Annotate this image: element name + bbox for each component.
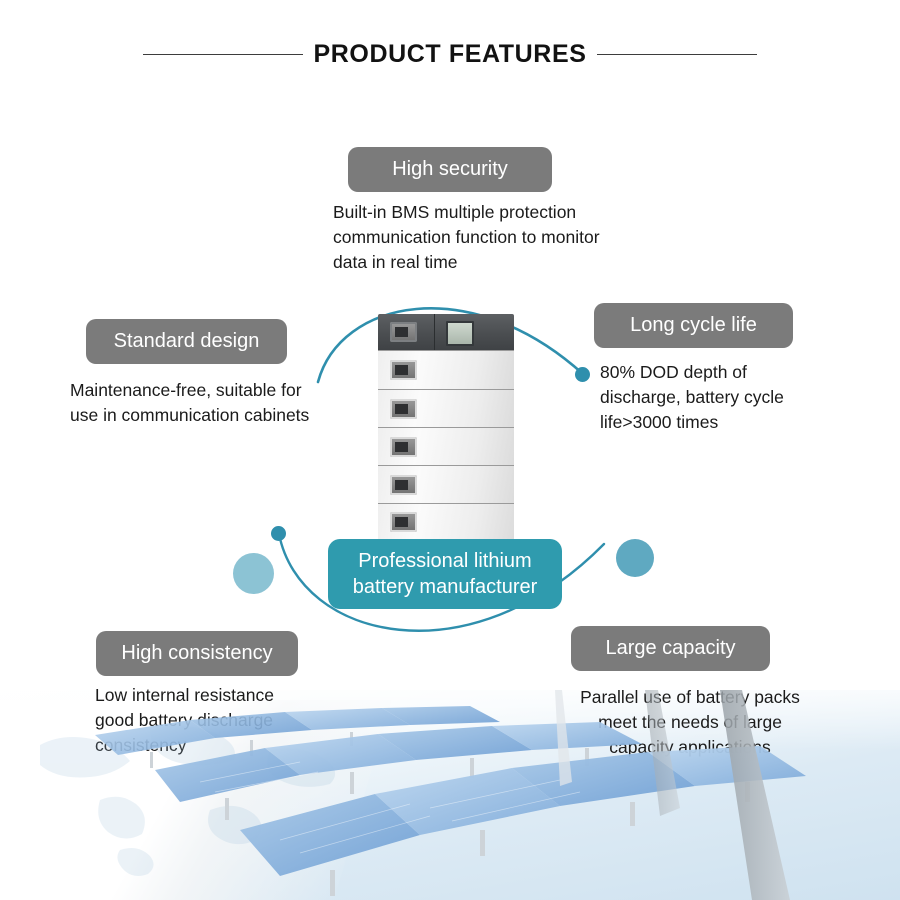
module-handle-icon xyxy=(390,437,417,457)
product-image-battery-cabinet xyxy=(378,314,514,539)
product-features-infographic: PRODUCT FEATURES xyxy=(0,0,900,900)
module-divider xyxy=(434,314,435,350)
center-banner-manufacturer: Professional lithium battery manufacture… xyxy=(328,539,562,609)
battery-module-top xyxy=(378,314,514,350)
module-handle-icon xyxy=(390,399,417,419)
battery-module xyxy=(378,465,514,503)
connector-dot-long-cycle-life xyxy=(575,367,590,382)
battery-module xyxy=(378,427,514,465)
battery-module xyxy=(378,389,514,427)
battery-module xyxy=(378,350,514,389)
connector-dot-left xyxy=(271,526,286,541)
module-handle-icon xyxy=(390,512,417,532)
battery-module xyxy=(378,503,514,539)
module-handle-icon xyxy=(390,360,417,380)
display-screen-icon xyxy=(446,321,474,346)
module-handle-icon xyxy=(390,475,417,495)
module-handle-icon xyxy=(390,322,417,342)
